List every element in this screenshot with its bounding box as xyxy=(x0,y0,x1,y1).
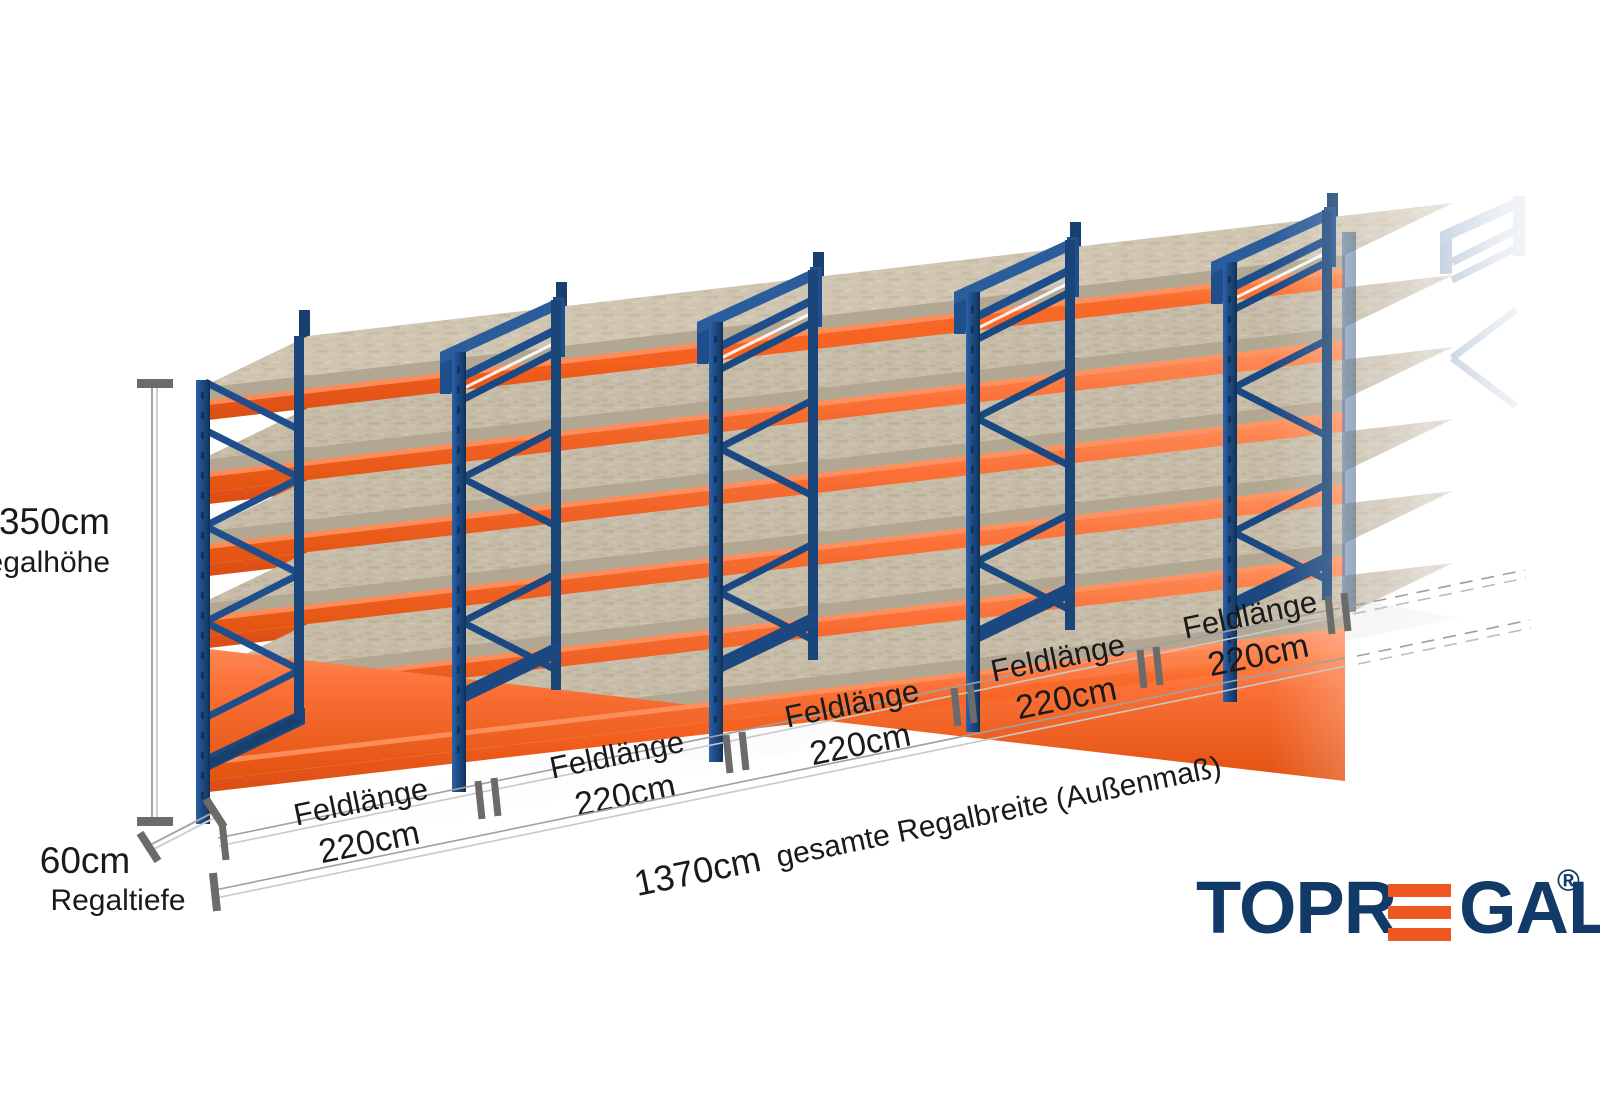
logo-text-part2: GAL xyxy=(1459,866,1600,949)
dimension-tick xyxy=(137,379,173,388)
depth-value: 60cm xyxy=(40,840,130,881)
illustration-canvas: 350cm Regalhöhe 60cm Regaltiefe xyxy=(0,0,1600,1100)
logo-e-icon xyxy=(1388,884,1451,941)
upright-perforations xyxy=(201,392,204,799)
logo-text-part1: TOPR xyxy=(1196,866,1396,949)
height-label: Regalhöhe xyxy=(0,546,110,579)
dimension-tick xyxy=(213,873,217,911)
depth-label: Regaltiefe xyxy=(50,884,185,917)
height-value: 350cm xyxy=(0,501,110,542)
logo-registered-mark: ® xyxy=(1557,863,1580,898)
dimension-tick xyxy=(137,817,173,826)
fade-overlay xyxy=(1270,170,1600,890)
